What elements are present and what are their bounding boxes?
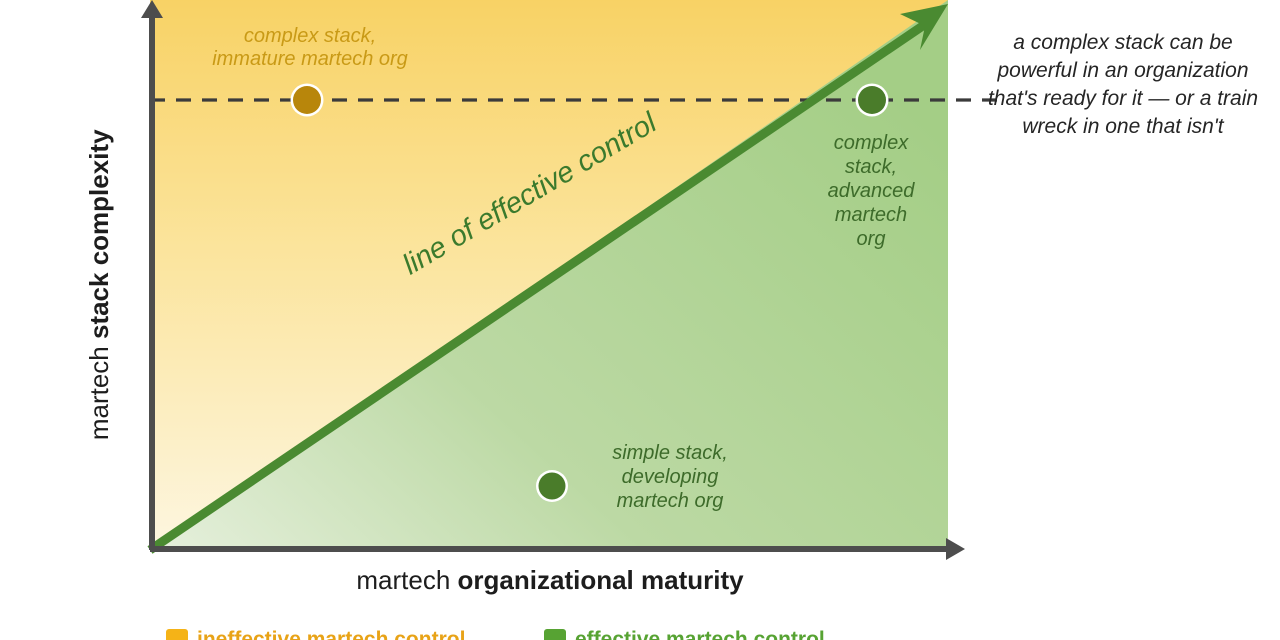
x-axis-label-strong: organizational maturity: [458, 565, 744, 595]
legend-item-label: effective martech control: [575, 628, 825, 640]
y-axis-label-strong: stack complexity: [84, 129, 114, 339]
chart-legend: ineffective martech control effective ma…: [150, 628, 970, 640]
legend-swatch-icon: [544, 629, 566, 640]
legend-item-label: ineffective martech control: [197, 628, 465, 640]
point-complex-stack-advanced-org[interactable]: [858, 86, 886, 114]
x-axis-label: martech organizational maturity: [150, 566, 950, 596]
legend-item-effective-control[interactable]: effective martech control: [544, 628, 825, 640]
y-axis-label-plain: martech: [84, 339, 114, 440]
x-axis-arrowhead: [946, 538, 965, 560]
legend-item-ineffective-control[interactable]: ineffective martech control: [166, 628, 465, 640]
legend-swatch-icon: [166, 629, 188, 640]
y-axis-label: martech stack complexity: [85, 15, 115, 555]
chart-figure: martech stack complexity martech organiz…: [0, 0, 1280, 640]
point-complex-stack-immature-org[interactable]: [293, 86, 321, 114]
callout-complex-stack-advanced-org: complex stack, advanced martech org: [800, 131, 942, 251]
callout-complex-stack-immature-org: complex stack, immature martech org: [100, 25, 520, 71]
x-axis-label-plain: martech: [356, 565, 457, 595]
callout-simple-stack-developing-org: simple stack, developing martech org: [560, 441, 780, 513]
annotation-complex-stack-note: a complex stack can be powerful in an or…: [978, 29, 1268, 141]
